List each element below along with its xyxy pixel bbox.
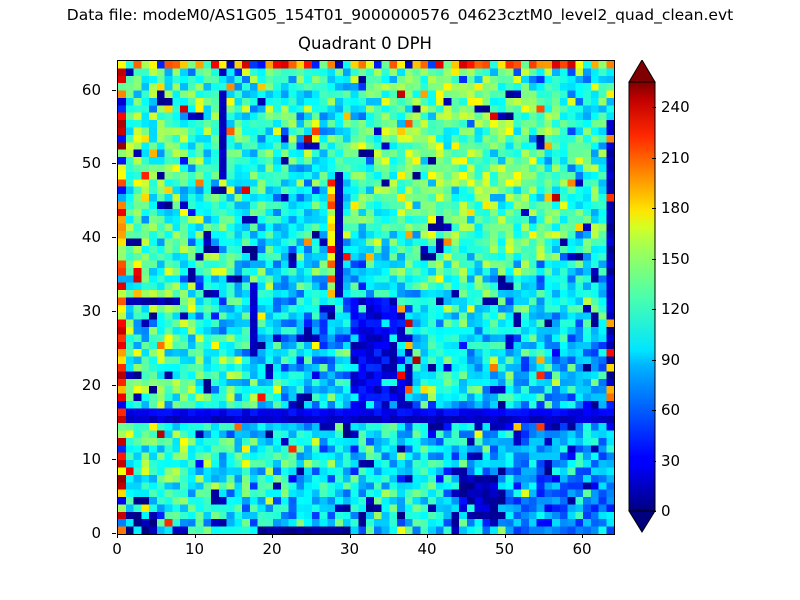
y-tick-mark [112, 385, 116, 386]
axes-title: Quadrant 0 DPH [117, 33, 613, 54]
x-tick-label: 30 [320, 541, 380, 557]
y-tick-label: 10 [41, 451, 101, 467]
x-tick-mark [117, 534, 118, 538]
x-tick-label: 20 [242, 541, 302, 557]
heatmap-image[interactable] [118, 61, 614, 534]
colorbar-tick-label: 210 [661, 150, 690, 166]
colorbar-tick-label: 60 [661, 402, 680, 418]
y-tick-label: 0 [41, 525, 101, 541]
x-tick-label: 60 [552, 541, 612, 557]
colorbar-tick-mark [652, 360, 656, 361]
y-tick-label: 20 [41, 377, 101, 393]
y-tick-label: 30 [41, 303, 101, 319]
colorbar-tick-label: 90 [661, 352, 680, 368]
y-tick-label: 40 [41, 229, 101, 245]
x-tick-label: 0 [87, 541, 147, 557]
x-tick-label: 50 [475, 541, 535, 557]
figure-canvas: Data file: modeM0/AS1G05_154T01_90000005… [0, 0, 800, 600]
colorbar-tick-label: 30 [661, 453, 680, 469]
x-tick-label: 40 [397, 541, 457, 557]
x-tick-mark [505, 534, 506, 538]
y-tick-mark [112, 533, 116, 534]
y-tick-mark [112, 459, 116, 460]
colorbar-tick-label: 120 [661, 301, 690, 317]
y-tick-label: 60 [41, 82, 101, 98]
colorbar-tick-mark [652, 309, 656, 310]
colorbar-tick-mark [652, 107, 656, 108]
colorbar-under-arrow [629, 511, 655, 532]
x-tick-mark [582, 534, 583, 538]
x-tick-mark [272, 534, 273, 538]
y-tick-mark [112, 311, 116, 312]
x-tick-mark [195, 534, 196, 538]
colorbar-over-arrow [629, 60, 655, 82]
colorbar-tick-label: 0 [661, 503, 671, 519]
colorbar-tick-label: 180 [661, 200, 690, 216]
colorbar-gradient[interactable] [628, 60, 656, 533]
heatmap-axes[interactable] [117, 60, 615, 535]
colorbar-tick-label: 150 [661, 251, 690, 267]
figure-suptitle: Data file: modeM0/AS1G05_154T01_90000005… [0, 5, 800, 25]
x-tick-mark [427, 534, 428, 538]
colorbar-body [629, 82, 655, 511]
colorbar-tick-mark [652, 461, 656, 462]
colorbar-tick-mark [652, 259, 656, 260]
colorbar-tick-mark [652, 511, 656, 512]
y-tick-mark [112, 237, 116, 238]
colorbar-tick-label: 240 [661, 99, 690, 115]
y-tick-mark [112, 163, 116, 164]
y-tick-mark [112, 90, 116, 91]
x-tick-label: 10 [165, 541, 225, 557]
colorbar[interactable]: 0306090120150180210240 [628, 60, 656, 533]
colorbar-tick-mark [652, 158, 656, 159]
colorbar-tick-mark [652, 208, 656, 209]
colorbar-tick-mark [652, 410, 656, 411]
y-tick-label: 50 [41, 155, 101, 171]
x-tick-mark [350, 534, 351, 538]
